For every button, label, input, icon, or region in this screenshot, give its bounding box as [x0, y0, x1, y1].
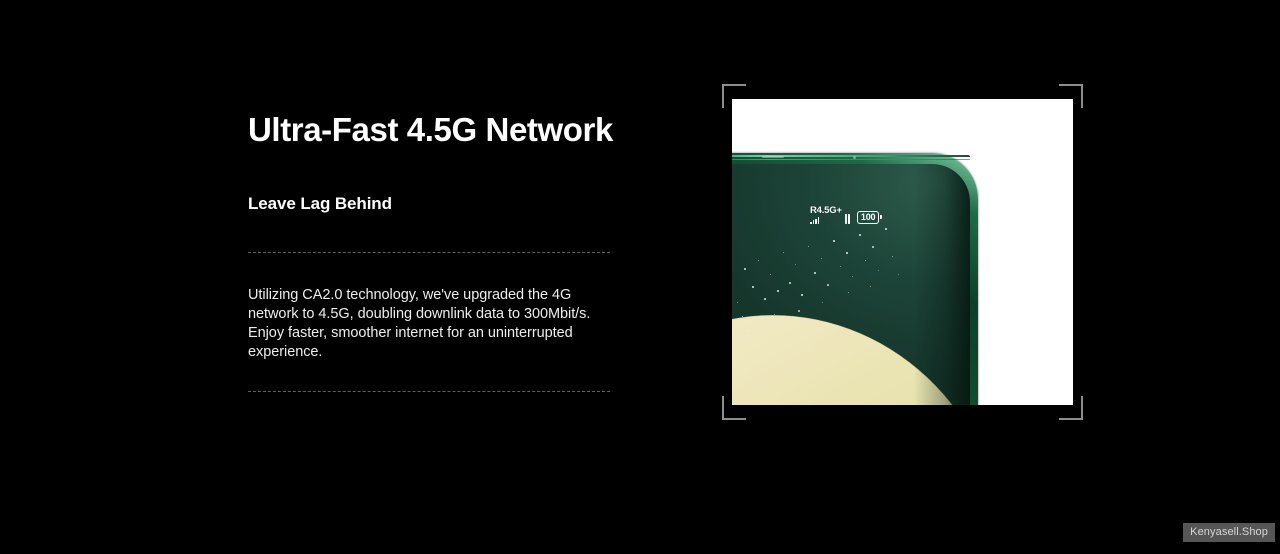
body-paragraph: Utilizing CA2.0 technology, we've upgrad…: [248, 253, 608, 362]
page-root: Ultra-Fast 4.5G Network Leave Lag Behind…: [0, 0, 1280, 554]
secondary-signal-icon: [845, 214, 850, 224]
phone-status-bar: R4.5G+ 100: [810, 206, 882, 224]
product-image-frame: R4.5G+ 100: [722, 84, 1083, 420]
proximity-sensor-icon: [853, 156, 856, 159]
product-photo: R4.5G+ 100: [732, 99, 1073, 405]
network-indicator: R4.5G+: [810, 206, 850, 224]
screen-edge-shading: [914, 164, 970, 405]
feature-text-column: Ultra-Fast 4.5G Network Leave Lag Behind…: [248, 112, 610, 392]
network-stack: R4.5G+: [810, 206, 842, 224]
battery-level-label: 100: [857, 211, 879, 224]
network-label: R4.5G+: [810, 206, 842, 216]
phone-device: R4.5G+ 100: [732, 153, 978, 405]
phone-bezel-rail-inner: [732, 159, 970, 160]
page-title: Ultra-Fast 4.5G Network: [248, 112, 610, 148]
battery-cap-icon: [880, 215, 882, 219]
battery-indicator: 100: [857, 211, 882, 224]
earpiece-speaker-icon: [762, 156, 784, 158]
signal-strength-icon: [810, 217, 819, 224]
phone-screen: R4.5G+ 100: [732, 164, 970, 405]
subheading: Leave Lag Behind: [248, 148, 610, 214]
watermark-badge: Kenyasell.Shop: [1183, 523, 1275, 542]
divider-bottom: [248, 391, 610, 392]
